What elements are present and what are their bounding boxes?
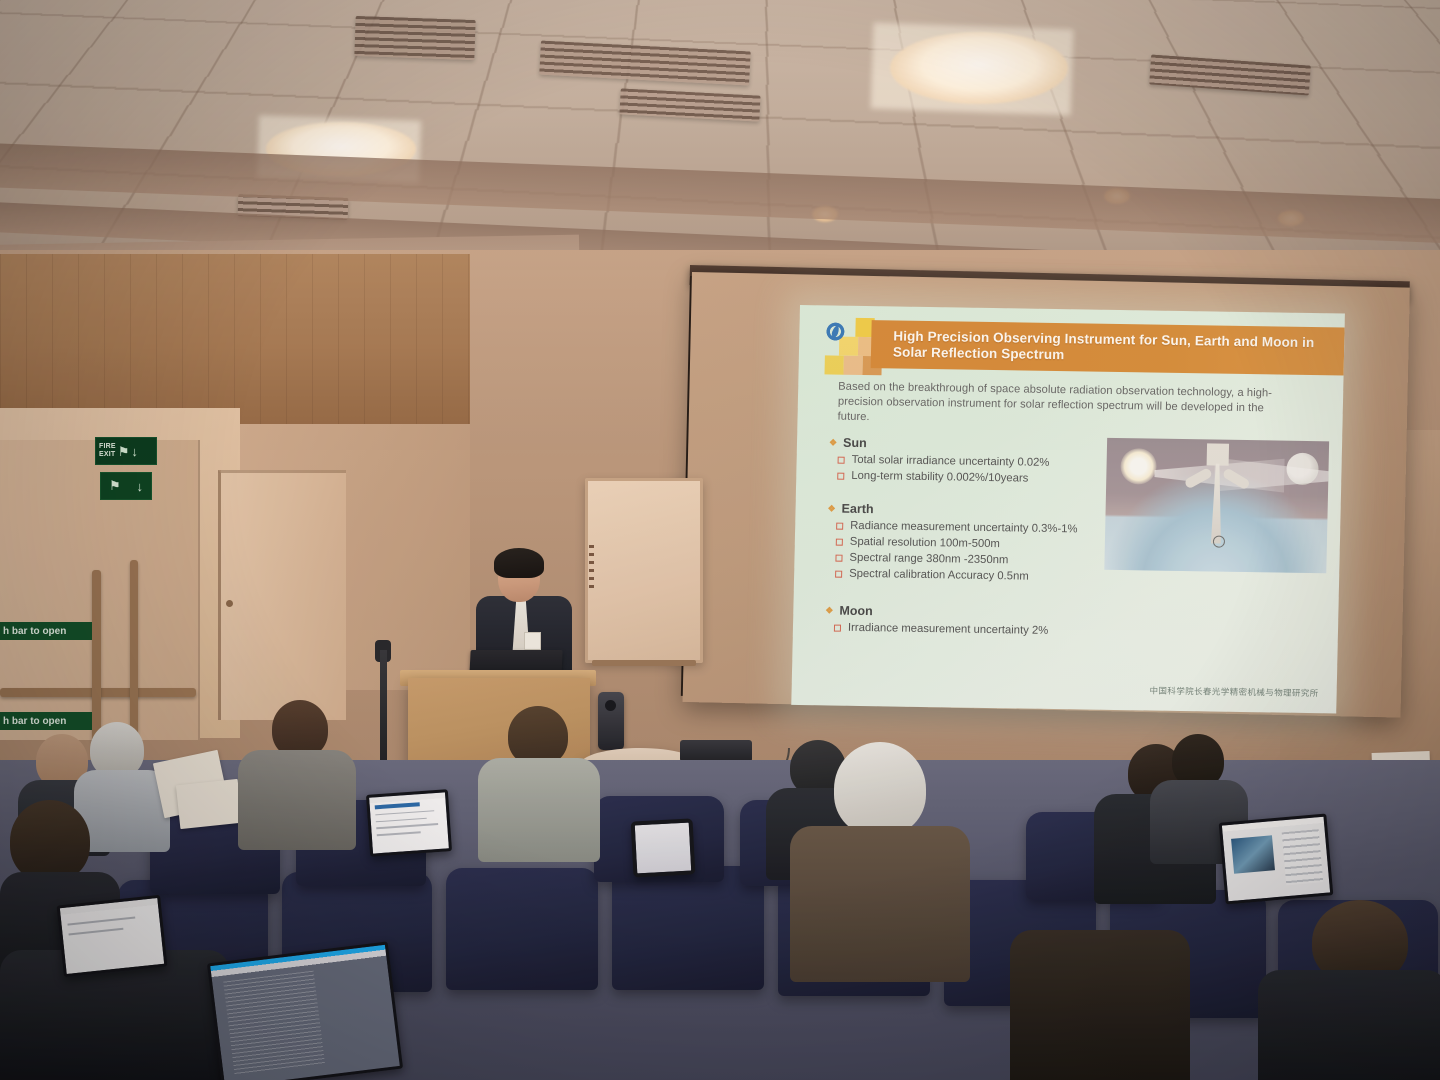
ceiling-light bbox=[890, 32, 1068, 104]
bullet-item: Long-term stability 0.002%/10years bbox=[837, 469, 1049, 487]
laptop-white-screen[interactable] bbox=[57, 895, 168, 977]
microphone-stand bbox=[380, 650, 387, 770]
push-bar-sign: h bar to open bbox=[0, 622, 92, 640]
whiteboard-magnets bbox=[589, 545, 594, 593]
whiteboard-marker-tray bbox=[592, 660, 696, 666]
presentation-slide: You're sharing your screen High Precisio… bbox=[791, 305, 1345, 713]
bullet-item: Spectral calibration Accuracy 0.5nm bbox=[835, 567, 1077, 585]
terminal-text-lines bbox=[223, 971, 325, 1077]
bullet-text: Radiance measurement uncertainty 0.3%-1% bbox=[850, 519, 1078, 537]
bullet-item: Spatial resolution 100m-500m bbox=[836, 535, 1078, 553]
bullet-item: Total solar irradiance uncertainty 0.02% bbox=[837, 453, 1049, 471]
square-bullet-icon bbox=[837, 472, 844, 479]
slide-lead-paragraph: Based on the breakthrough of space absol… bbox=[837, 380, 1290, 432]
section-heading: Sun bbox=[843, 436, 867, 450]
slide-title: High Precision Observing Instrument for … bbox=[871, 328, 1345, 368]
laptop-terminal-screen[interactable] bbox=[207, 941, 403, 1080]
audience-member bbox=[478, 706, 600, 856]
satellite-body bbox=[1207, 443, 1229, 465]
target-marker-icon bbox=[1213, 536, 1225, 548]
conference-speakerphone[interactable] bbox=[598, 692, 624, 750]
bullet-text: Irradiance measurement uncertainty 2% bbox=[848, 621, 1049, 639]
down-arrow-icon: ↓ bbox=[131, 445, 138, 458]
whiteboard bbox=[585, 478, 703, 663]
audience-member bbox=[790, 742, 970, 972]
audience-member bbox=[238, 700, 356, 840]
side-door[interactable] bbox=[218, 470, 346, 720]
fire-exit-sign: FIRE EXIT ⚑ ↓ bbox=[95, 437, 157, 465]
square-bullet-icon bbox=[836, 522, 843, 529]
ceiling-vent bbox=[354, 16, 475, 60]
exit-arrow-sign: ⚑ ↓ bbox=[100, 472, 152, 500]
section-heading-row: ❖ Earth bbox=[827, 501, 1078, 519]
torso bbox=[478, 758, 600, 862]
section-heading-row: ❖ Sun bbox=[829, 435, 1050, 452]
laptop-webpage-screen[interactable] bbox=[1219, 813, 1334, 904]
section-heading-row: ❖ Moon bbox=[825, 603, 1049, 621]
bullet-text: Spectral range 380nm -2350nm bbox=[849, 551, 1008, 568]
presenter-name-badge bbox=[524, 632, 541, 650]
square-bullet-icon bbox=[838, 456, 845, 463]
audience-member-foreground bbox=[1010, 930, 1190, 1080]
head-white-hair bbox=[834, 742, 926, 836]
presenter-hair bbox=[494, 548, 544, 578]
head bbox=[508, 706, 568, 766]
screen-content bbox=[210, 945, 400, 1080]
square-bullet-icon bbox=[835, 554, 842, 561]
wood-panel-wall bbox=[0, 254, 470, 424]
section-heading: Earth bbox=[841, 502, 873, 516]
seat bbox=[446, 868, 598, 990]
slide-section-sun: ❖ Sun Total solar irradiance uncertainty… bbox=[828, 435, 1050, 487]
slide-footer-institute: 中国科学院长春光学精密机械与物理研究所 bbox=[1149, 685, 1318, 700]
square-bullet-icon bbox=[836, 538, 843, 545]
bullet-item: Radiance measurement uncertainty 0.3%-1% bbox=[836, 519, 1078, 537]
fire-exit-line2: EXIT bbox=[99, 451, 116, 459]
bullet-text: Long-term stability 0.002%/10years bbox=[851, 469, 1028, 486]
bullet-item: Spectral range 380nm -2350nm bbox=[835, 551, 1077, 569]
screen-content bbox=[369, 792, 449, 853]
satellite-illustration bbox=[1104, 438, 1329, 573]
head bbox=[10, 800, 90, 882]
square-bullet-icon bbox=[835, 570, 842, 577]
down-arrow-icon: ↓ bbox=[137, 479, 144, 494]
tablet-screen[interactable] bbox=[631, 818, 696, 877]
screen-content bbox=[60, 898, 164, 974]
laptop-document-screen[interactable] bbox=[366, 789, 452, 857]
bullet-item: Irradiance measurement uncertainty 2% bbox=[834, 621, 1049, 639]
running-man-icon: ⚑ bbox=[109, 478, 121, 494]
bullet-text: Total solar irradiance uncertainty 0.02% bbox=[851, 453, 1049, 471]
sun-icon bbox=[1120, 448, 1157, 485]
diamond-bullet-icon: ❖ bbox=[827, 503, 835, 514]
handout-paper bbox=[176, 779, 242, 829]
slide-title-bar: High Precision Observing Instrument for … bbox=[871, 320, 1345, 375]
door-handle[interactable] bbox=[226, 600, 233, 607]
screen-content bbox=[1222, 817, 1330, 902]
running-man-icon: ⚑ bbox=[118, 445, 130, 458]
conference-room-photo: FIRE EXIT ⚑ ↓ ⚑ ↓ h bar to open h bar to… bbox=[0, 0, 1440, 1080]
square-bullet-icon bbox=[834, 624, 841, 631]
torso bbox=[1258, 970, 1440, 1080]
bullet-text: Spatial resolution 100m-500m bbox=[850, 535, 1000, 552]
bag-and-torso bbox=[1010, 930, 1190, 1080]
slide-section-moon: ❖ Moon Irradiance measurement uncertaint… bbox=[825, 603, 1049, 639]
fire-exit-line1: FIRE bbox=[99, 443, 116, 451]
bullet-text: Spectral calibration Accuracy 0.5nm bbox=[849, 567, 1029, 584]
slide-section-earth: ❖ Earth Radiance measurement uncertainty… bbox=[826, 501, 1078, 586]
torso-jacket bbox=[790, 826, 970, 982]
diamond-bullet-icon: ❖ bbox=[825, 605, 833, 616]
section-heading: Moon bbox=[839, 604, 873, 619]
audience-member-foreground bbox=[1258, 900, 1440, 1080]
torso bbox=[238, 750, 356, 850]
diamond-bullet-icon: ❖ bbox=[829, 437, 837, 448]
